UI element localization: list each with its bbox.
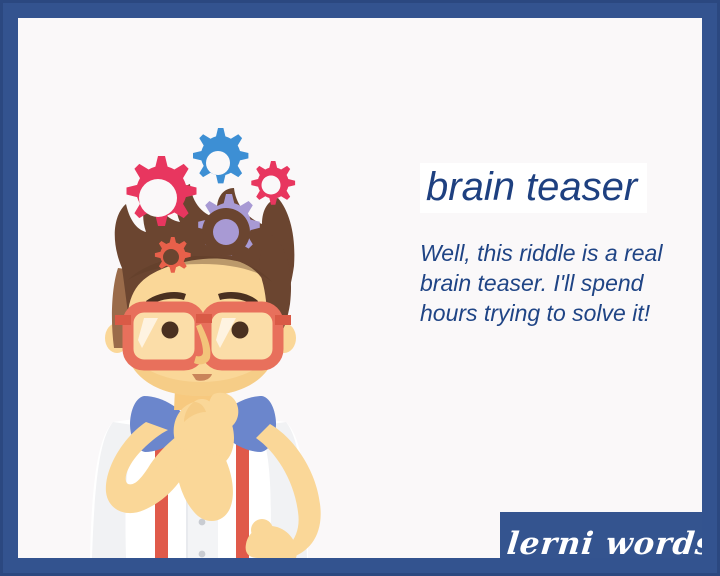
glasses-bridge — [196, 314, 212, 323]
right-thumb — [251, 519, 273, 541]
card-canvas: brain teaser Well, this riddle is a real… — [18, 18, 702, 558]
headword: brain teaser — [426, 166, 637, 208]
brand-logo: lerni words — [500, 512, 702, 558]
gear-pink-small-icon — [251, 161, 295, 205]
brand-logo-text: lerni words — [505, 526, 702, 558]
thinking-man-illustration — [18, 18, 438, 558]
glasses-temple-left — [115, 315, 131, 325]
example-sentence: Well, this riddle is a real brain teaser… — [420, 239, 698, 329]
gear-blue-icon — [193, 128, 248, 183]
gear-orange-icon — [155, 237, 191, 273]
eye-left — [162, 322, 179, 339]
vocabulary-card: brain teaser Well, this riddle is a real… — [0, 0, 720, 576]
headword-highlight: brain teaser — [420, 163, 647, 213]
definition-text-column: brain teaser Well, this riddle is a real… — [420, 163, 702, 329]
shirt-button — [199, 551, 206, 558]
gear-pink-large-icon — [126, 156, 196, 226]
eye-right — [232, 322, 249, 339]
glasses-temple-right — [275, 315, 291, 325]
chin-hand-thumb — [208, 393, 239, 430]
shirt-button — [199, 519, 206, 526]
